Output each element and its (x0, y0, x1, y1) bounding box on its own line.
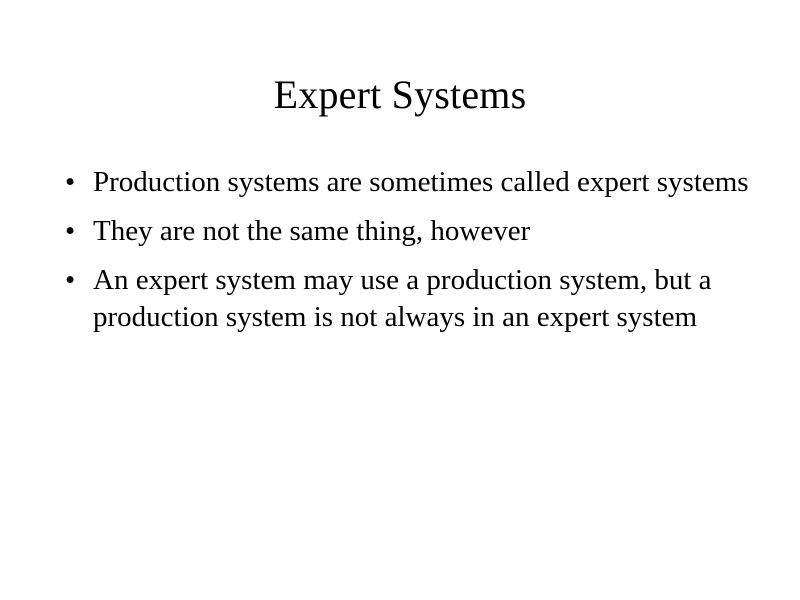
list-item-text: An expert system may use a production sy… (93, 262, 760, 336)
bullet-point-icon: • (65, 213, 81, 250)
list-item: • An expert system may use a production … (60, 262, 760, 336)
slide-canvas: Expert Systems • Production systems are … (0, 0, 800, 600)
bullet-point-icon: • (65, 164, 81, 201)
bullet-point-icon: • (65, 262, 81, 299)
list-item-text: Production systems are sometimes called … (93, 164, 760, 201)
page-title: Expert Systems (0, 72, 800, 118)
list-item: • Production systems are sometimes calle… (60, 164, 760, 201)
list-item-text: They are not the same thing, however (93, 213, 760, 250)
list-item: • They are not the same thing, however (60, 213, 760, 250)
bullet-list: • Production systems are sometimes calle… (60, 164, 760, 336)
